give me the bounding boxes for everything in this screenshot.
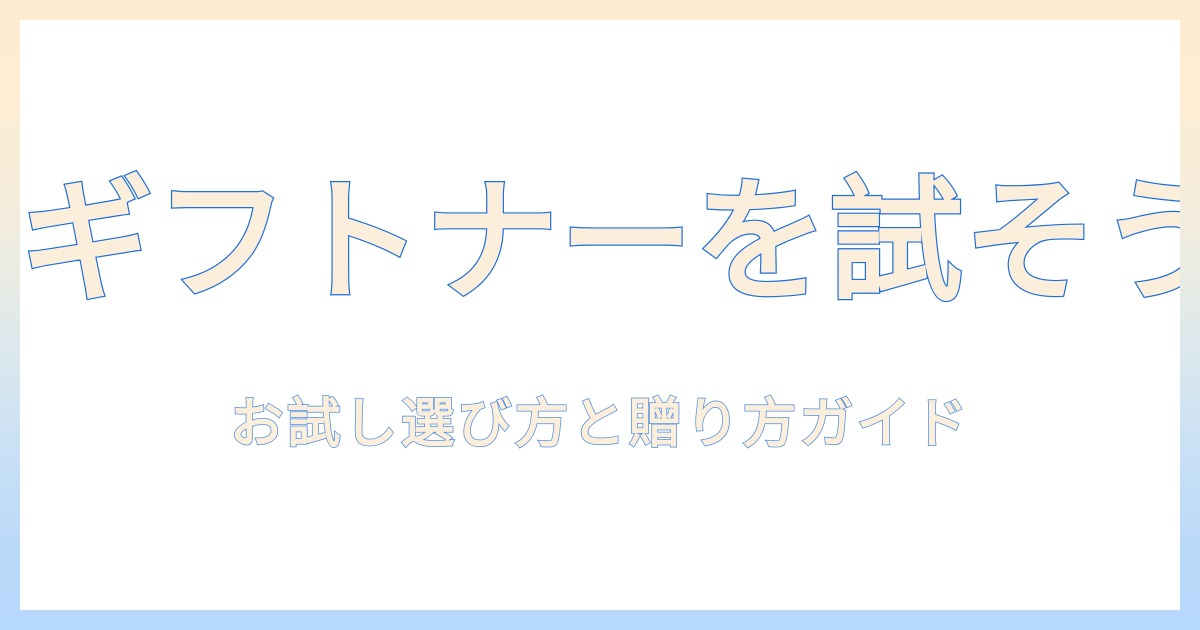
page-title: ギフトナーを試そう — [20, 170, 1180, 315]
page-subtitle: お試し選び方と贈り方ガイド — [230, 392, 971, 457]
banner-background: ギフトナーを試そう お試し選び方と贈り方ガイド — [0, 0, 1200, 630]
subline-container: お試し選び方と贈り方ガイド — [20, 392, 1180, 457]
banner-card: ギフトナーを試そう お試し選び方と贈り方ガイド — [20, 20, 1180, 610]
banner-content: ギフトナーを試そう お試し選び方と贈り方ガイド — [20, 20, 1180, 610]
headline-container: ギフトナーを試そう — [20, 170, 1180, 315]
